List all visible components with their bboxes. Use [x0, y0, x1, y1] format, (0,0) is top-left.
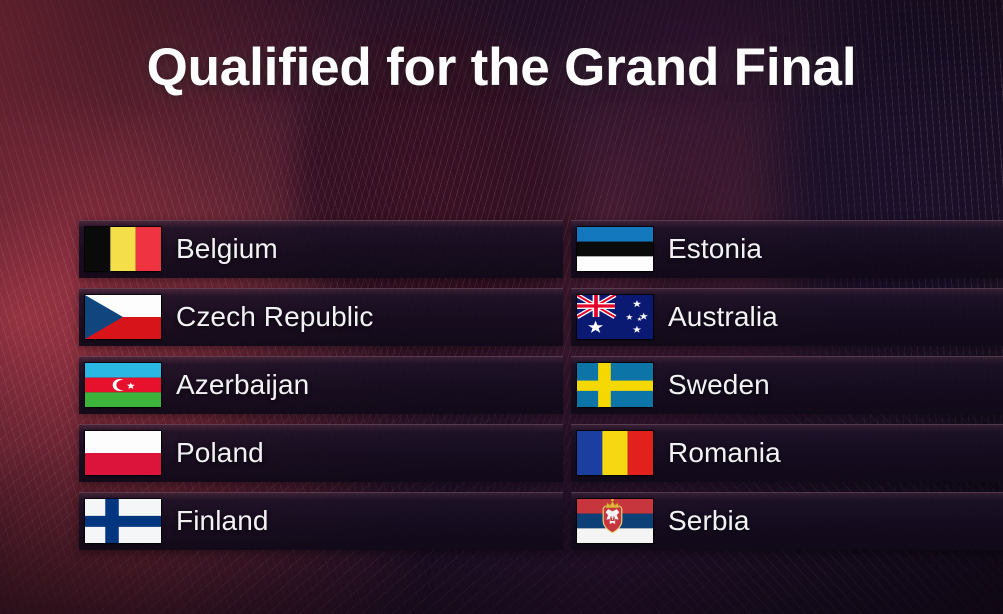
qualifier-row-belgium: Belgium [79, 220, 563, 278]
country-name: Australia [668, 301, 778, 333]
flag-romania-icon [577, 431, 653, 475]
qualifier-row-serbia: Serbia [571, 492, 1003, 550]
flag-belgium-icon [85, 227, 161, 271]
flag-sweden-icon [577, 363, 653, 407]
qualifier-row-estonia: Estonia [571, 220, 1003, 278]
page-title: Qualified for the Grand Final [0, 37, 1003, 98]
flag-finland-icon [85, 499, 161, 543]
country-name: Serbia [668, 505, 750, 537]
flag-serbia-icon [577, 499, 653, 543]
qualifier-row-azerbaijan: Azerbaijan [79, 356, 563, 414]
qualifiers-column-left: Belgium Czech Republic [79, 220, 563, 560]
qualified-grand-final-screen: Qualified for the Grand Final Belgium [0, 0, 1003, 614]
flag-azerbaijan-icon [85, 363, 161, 407]
country-name: Poland [176, 437, 264, 469]
country-name: Sweden [668, 369, 770, 401]
qualifier-row-poland: Poland [79, 424, 563, 482]
country-name: Czech Republic [176, 301, 374, 333]
flag-czech-republic-icon [85, 295, 161, 339]
qualifier-row-sweden: Sweden [571, 356, 1003, 414]
country-name: Romania [668, 437, 781, 469]
country-name: Azerbaijan [176, 369, 309, 401]
qualifier-row-australia: Australia [571, 288, 1003, 346]
country-name: Finland [176, 505, 269, 537]
country-name: Belgium [176, 233, 278, 265]
flag-estonia-icon [577, 227, 653, 271]
qualifiers-column-right: Estonia [571, 220, 1003, 560]
flag-poland-icon [85, 431, 161, 475]
qualifier-row-finland: Finland [79, 492, 563, 550]
flag-australia-icon [577, 295, 653, 339]
country-name: Estonia [668, 233, 762, 265]
qualifier-row-czech-republic: Czech Republic [79, 288, 563, 346]
qualifier-row-romania: Romania [571, 424, 1003, 482]
